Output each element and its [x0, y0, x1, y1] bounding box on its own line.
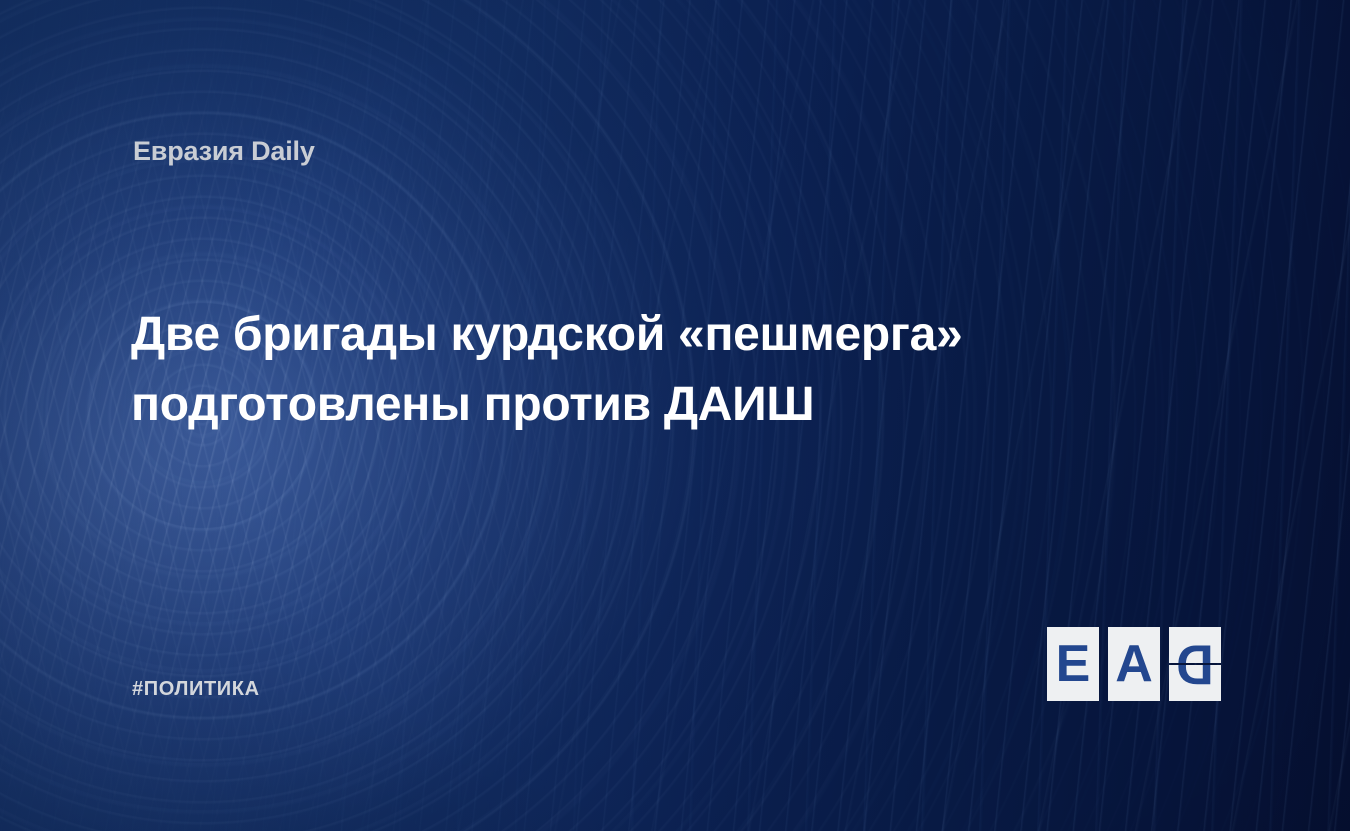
logo-tile-d-top: D — [1169, 627, 1221, 663]
brand-wordmark: Евразия Daily — [133, 136, 315, 167]
logo-letter-d-bottom: D — [1176, 665, 1214, 691]
logo-tile-d-bottom: D — [1169, 665, 1221, 701]
category-tag-politics[interactable]: #ПОЛИТИКА — [132, 678, 260, 701]
logo-tile-a: A — [1108, 627, 1160, 701]
logo-letter-d-top: D — [1176, 637, 1214, 663]
eadaily-logo[interactable]: E A D D — [1047, 627, 1221, 701]
news-share-card: Евразия Daily Две бригады курдской «пешм… — [0, 0, 1350, 831]
logo-tile-e: E — [1047, 627, 1099, 701]
logo-tile-d-stack: D D — [1169, 627, 1221, 701]
card-content: Евразия Daily Две бригады курдской «пешм… — [0, 0, 1350, 831]
page-title: Две бригады курдской «пешмерга» подготов… — [131, 300, 1121, 439]
